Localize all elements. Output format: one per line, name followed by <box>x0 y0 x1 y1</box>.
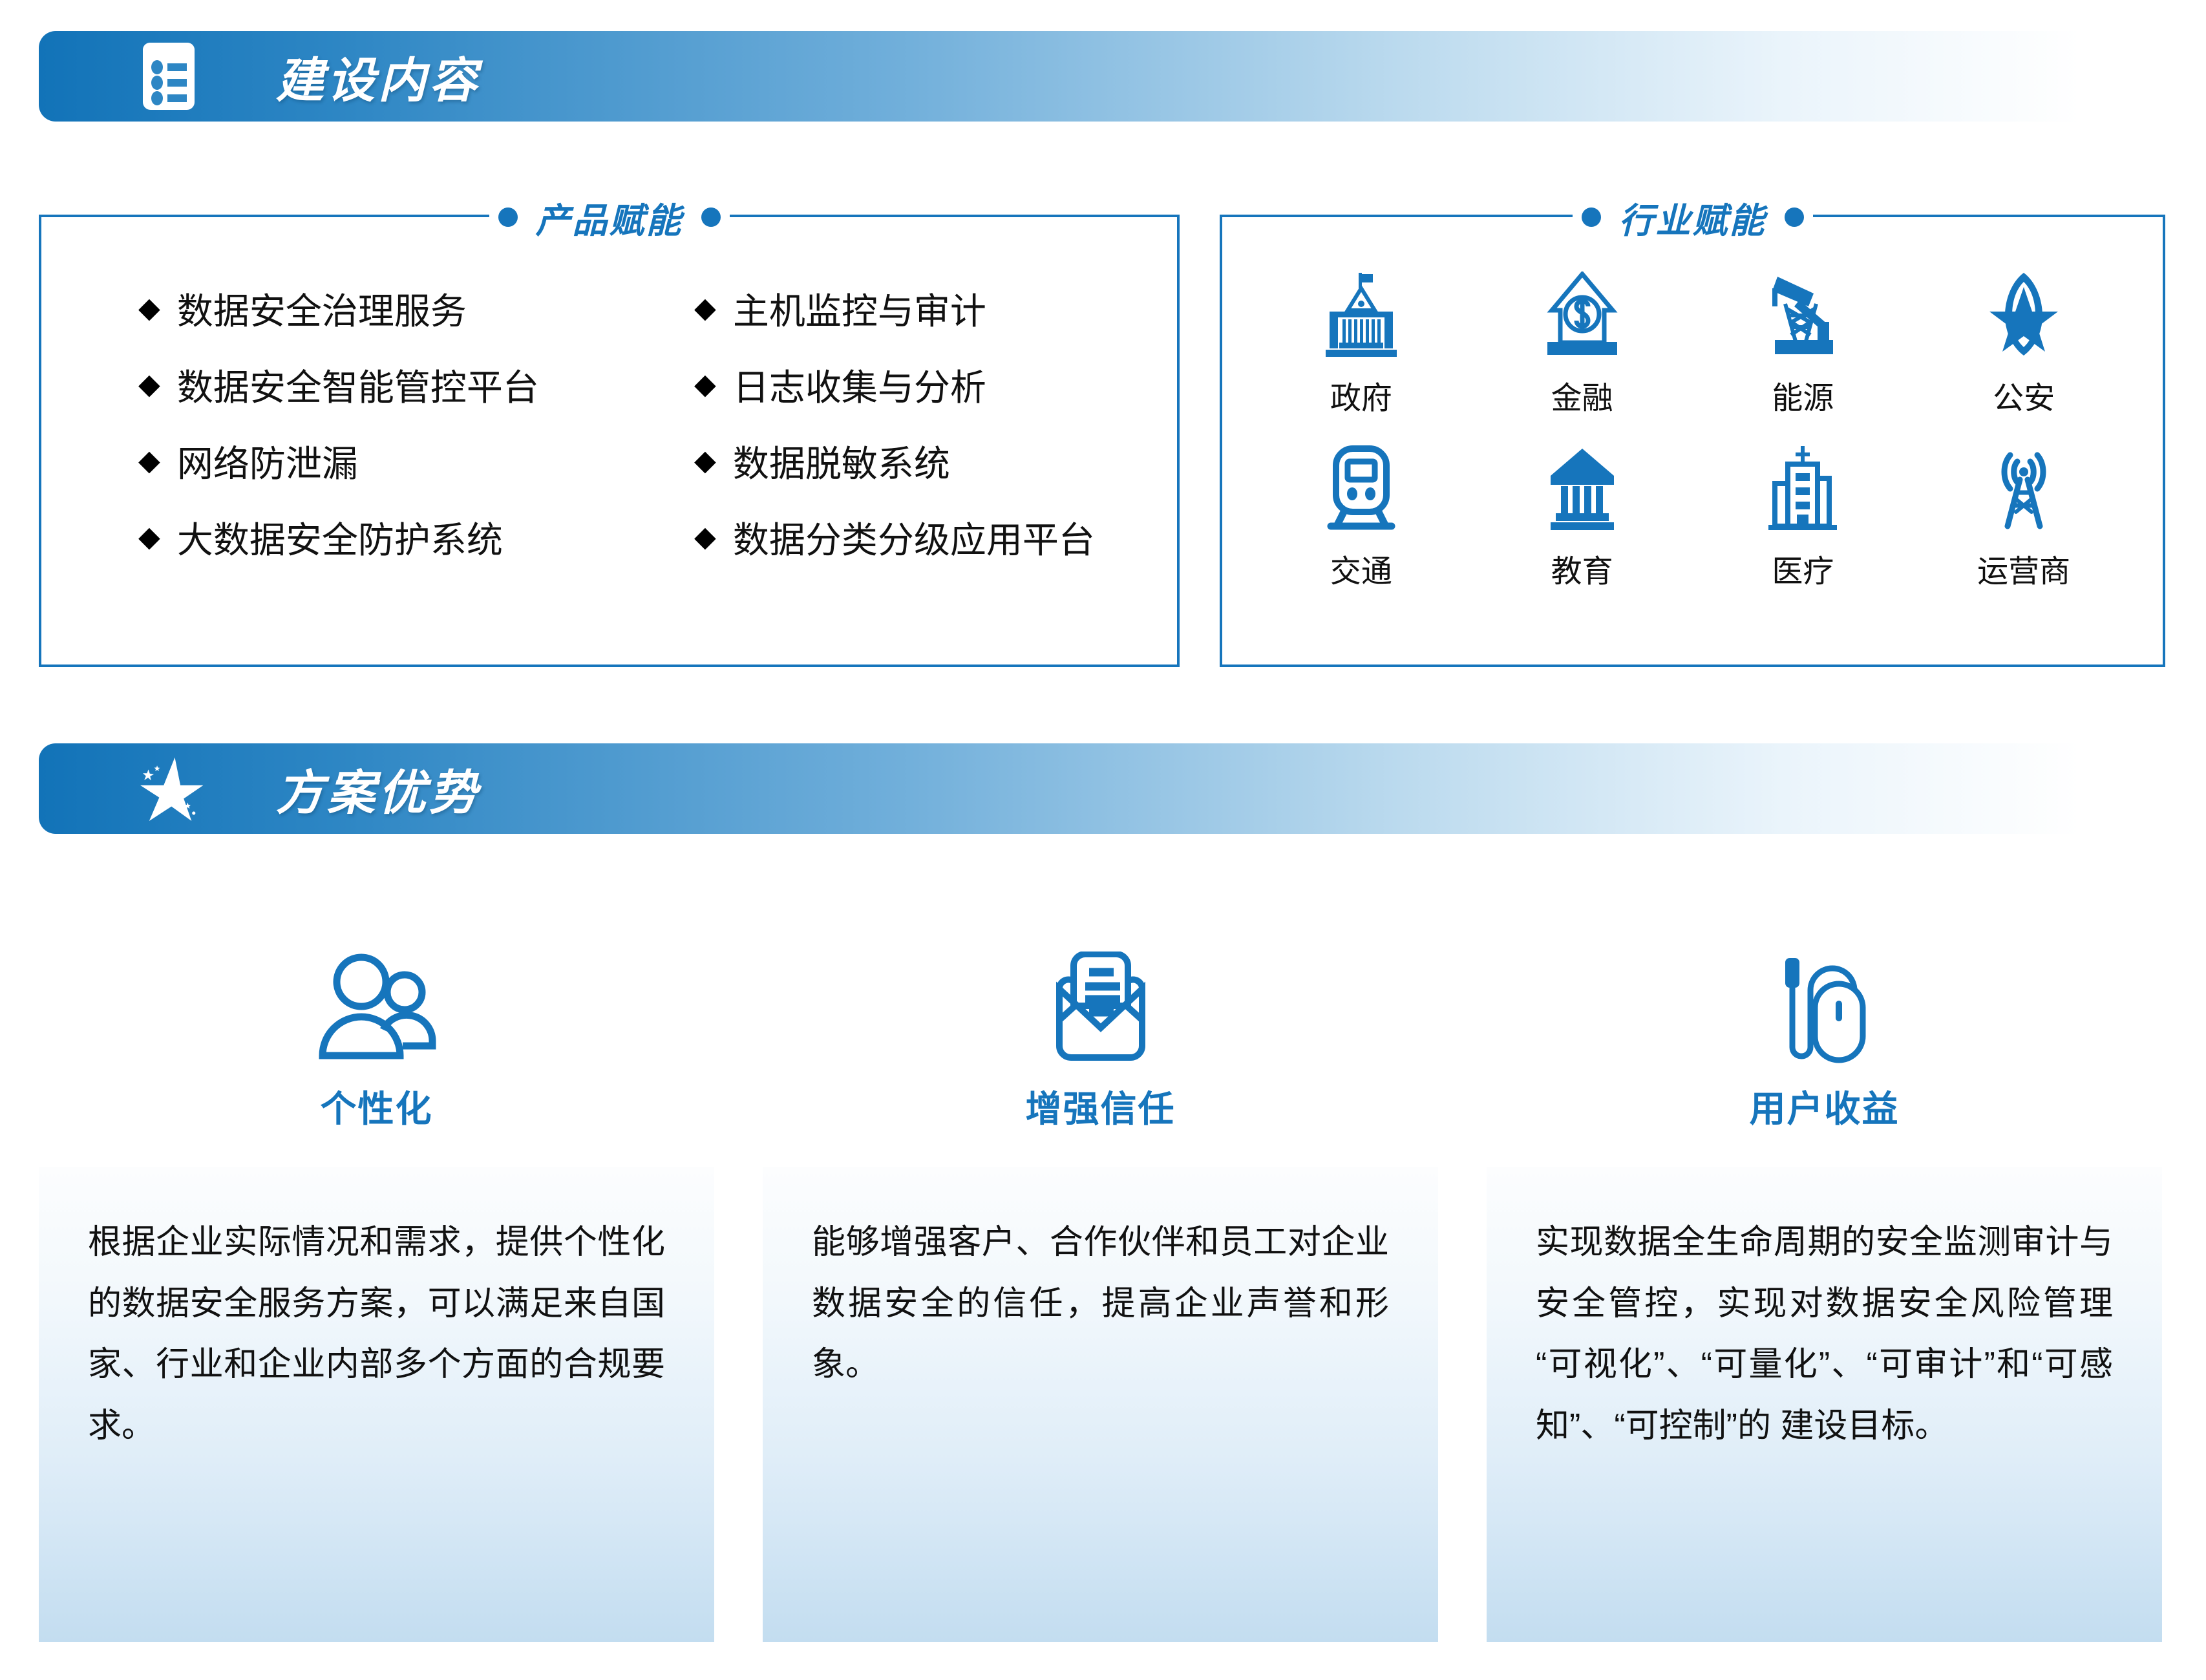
oil-pump-icon <box>1761 268 1845 358</box>
industry-grid: 政府 金融 <box>1251 268 2134 591</box>
industry-label: 能源 <box>1772 372 1834 418</box>
advantage-header-trust: 增强信任 <box>763 950 1438 1132</box>
industry-panel-header: 行业赋能 <box>1222 190 2163 244</box>
list-item[interactable]: ◆ 数据脱敏系统 <box>694 423 1138 499</box>
list-item-label: 数据脱敏系统 <box>733 435 950 487</box>
list-item[interactable]: ◆ 日志收集与分析 <box>694 346 1138 423</box>
poster-page: 建设内容 产品赋能 ◆ 数据安全治理服务 ◆ 主机监控与审计 ◆ 数据安全智能管… <box>0 0 2206 1680</box>
list-item[interactable]: ◆ 大数据安全防护系统 <box>138 499 694 575</box>
advantage-body: 实现数据全生命周期的安全监测审计与安全管控，实现对数据安全风险管理“可视化”、“… <box>1536 1212 2113 1457</box>
industry-item-education[interactable]: 教育 <box>1472 441 1693 591</box>
industry-item-transport[interactable]: 交通 <box>1251 441 1472 591</box>
panel-title: 行业赋能 <box>1619 192 1766 243</box>
advantage-header-personalization: 个性化 <box>39 950 714 1132</box>
list-item-label: 数据安全治理服务 <box>177 282 467 335</box>
industry-label: 交通 <box>1330 546 1392 591</box>
industry-label: 运营商 <box>1977 546 2070 591</box>
section-banner-construction: 建设内容 <box>39 31 2165 122</box>
advantage-title: 增强信任 <box>1026 1080 1176 1132</box>
list-item-label: 大数据安全防护系统 <box>177 511 503 564</box>
product-panel-header: 产品赋能 <box>41 190 1177 244</box>
advantage-card-personalization: 根据企业实际情况和需求，提供个性化的数据安全服务方案，可以满足来自国家、行业和企… <box>39 1167 714 1642</box>
list-item[interactable]: ◆ 数据安全治理服务 <box>138 270 694 346</box>
divider-dot-left <box>1582 207 1601 227</box>
government-building-icon <box>1319 268 1403 358</box>
product-empowerment-panel: 产品赋能 ◆ 数据安全治理服务 ◆ 主机监控与审计 ◆ 数据安全智能管控平台 ◆… <box>39 215 1180 667</box>
advantage-card-user-benefit: 实现数据全生命周期的安全监测审计与安全管控，实现对数据安全风险管理“可视化”、“… <box>1487 1167 2162 1642</box>
list-item-label: 数据分类分级应用平台 <box>733 511 1095 564</box>
train-icon <box>1319 441 1403 531</box>
industry-label: 金融 <box>1551 372 1613 418</box>
industry-item-government[interactable]: 政府 <box>1251 268 1472 418</box>
divider-dot-left <box>498 207 518 227</box>
envelope-letter-icon <box>1043 950 1159 1063</box>
diamond-bullet-icon: ◆ <box>138 523 160 551</box>
list-item[interactable]: ◆ 数据分类分级应用平台 <box>694 499 1138 575</box>
list-item[interactable]: ◆ 网络防泄漏 <box>138 423 694 499</box>
bank-columns-icon <box>1540 441 1624 531</box>
police-star-icon <box>1982 268 2066 358</box>
product-list: ◆ 数据安全治理服务 ◆ 主机监控与审计 ◆ 数据安全智能管控平台 ◆ 日志收集… <box>138 270 1138 575</box>
signal-tower-icon <box>1982 441 2066 531</box>
industry-label: 医疗 <box>1772 546 1834 591</box>
advantage-title: 个性化 <box>321 1080 433 1132</box>
diamond-bullet-icon: ◆ <box>138 370 160 399</box>
star-icon <box>133 752 205 825</box>
industry-item-healthcare[interactable]: 医疗 <box>1693 441 1914 591</box>
diamond-bullet-icon: ◆ <box>138 447 160 475</box>
industry-item-finance[interactable]: 金融 <box>1472 268 1693 418</box>
list-document-icon <box>133 40 205 112</box>
advantage-title: 用户收益 <box>1750 1080 1900 1132</box>
list-item-label: 日志收集与分析 <box>733 359 986 411</box>
panel-title: 产品赋能 <box>536 192 683 243</box>
advantage-card-trust: 能够增强客户、合作伙伴和员工对企业数据安全的信任，提高企业声誉和形象。 <box>763 1167 1438 1642</box>
industry-empowerment-panel: 行业赋能 <box>1220 215 2165 667</box>
list-item-label: 数据安全智能管控平台 <box>177 359 539 411</box>
industry-item-police[interactable]: 公安 <box>1913 268 2134 418</box>
divider-dot-right <box>1785 207 1804 227</box>
section-title: 建设内容 <box>276 42 480 111</box>
list-item-label: 网络防泄漏 <box>177 435 358 487</box>
advantage-header-user-benefit: 用户收益 <box>1487 950 2162 1132</box>
hospital-building-icon <box>1761 441 1845 531</box>
section-banner-advantages: 方案优势 <box>39 743 2165 834</box>
dollar-monument-icon <box>1540 268 1624 358</box>
industry-item-carrier[interactable]: 运营商 <box>1913 441 2134 591</box>
diamond-bullet-icon: ◆ <box>694 447 716 475</box>
two-people-icon <box>312 950 441 1063</box>
diamond-bullet-icon: ◆ <box>694 294 716 323</box>
computer-mouse-icon <box>1765 950 1884 1063</box>
industry-label: 政府 <box>1330 372 1392 418</box>
diamond-bullet-icon: ◆ <box>694 523 716 551</box>
advantage-body: 能够增强客户、合作伙伴和员工对企业数据安全的信任，提高企业声誉和形象。 <box>812 1212 1389 1396</box>
diamond-bullet-icon: ◆ <box>694 370 716 399</box>
list-item[interactable]: ◆ 主机监控与审计 <box>694 270 1138 346</box>
list-item-label: 主机监控与审计 <box>733 282 986 335</box>
divider-dot-right <box>701 207 721 227</box>
industry-label: 教育 <box>1551 546 1613 591</box>
advantage-body: 根据企业实际情况和需求，提供个性化的数据安全服务方案，可以满足来自国家、行业和企… <box>88 1212 665 1457</box>
industry-item-energy[interactable]: 能源 <box>1693 268 1914 418</box>
industry-label: 公安 <box>1993 372 2055 418</box>
diamond-bullet-icon: ◆ <box>138 294 160 323</box>
section-title: 方案优势 <box>276 754 480 824</box>
list-item[interactable]: ◆ 数据安全智能管控平台 <box>138 346 694 423</box>
